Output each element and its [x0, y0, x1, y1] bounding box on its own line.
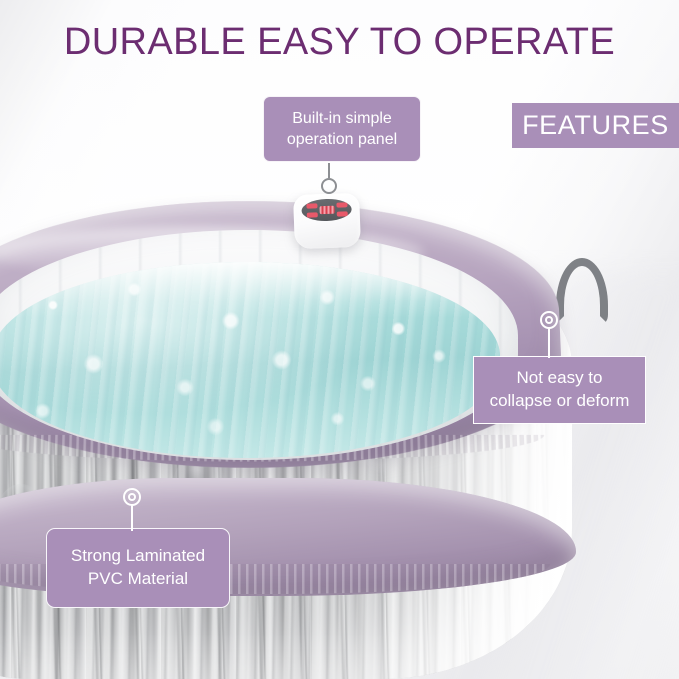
bubbling-water: [0, 262, 500, 458]
product-feature-image: DURABLE EASY TO OPERATE FEATURES Built-i…: [0, 0, 679, 679]
callout-pvc-material: Strong Laminated PVC Material: [46, 528, 230, 608]
page-title: DURABLE EASY TO OPERATE: [0, 21, 679, 64]
carry-handle: [556, 258, 608, 324]
control-button[interactable]: [337, 211, 348, 216]
features-badge-label: FEATURES: [522, 110, 669, 141]
callout-pvc-material-leader: [131, 505, 133, 531]
callout-collapse-deform-line1: Not easy to: [474, 367, 645, 390]
callout-pvc-material-line2: PVC Material: [47, 568, 229, 591]
callout-pvc-material-line1: Strong Laminated: [47, 545, 229, 568]
callout-collapse-deform-line2: collapse or deform: [474, 390, 645, 413]
water-steam-mist: [0, 262, 500, 318]
control-panel-unit[interactable]: [293, 193, 361, 249]
callout-collapse-deform-marker-inner: [545, 316, 553, 324]
callout-collapse-deform: Not easy to collapse or deform: [473, 356, 646, 424]
callout-pvc-material-marker-inner: [128, 493, 136, 501]
callout-operation-panel-marker: [321, 178, 337, 194]
control-button[interactable]: [306, 203, 317, 208]
callout-operation-panel-line2: operation panel: [264, 129, 420, 150]
callout-operation-panel-leader: [328, 163, 330, 178]
callout-collapse-deform-leader: [548, 328, 550, 358]
control-panel-readout: [319, 206, 334, 215]
control-button[interactable]: [336, 202, 347, 207]
control-panel-display: [301, 198, 352, 222]
features-badge: FEATURES: [512, 103, 679, 148]
callout-operation-panel-line1: Built-in simple: [264, 108, 420, 129]
callout-operation-panel: Built-in simple operation panel: [263, 96, 421, 162]
control-button[interactable]: [307, 212, 318, 217]
